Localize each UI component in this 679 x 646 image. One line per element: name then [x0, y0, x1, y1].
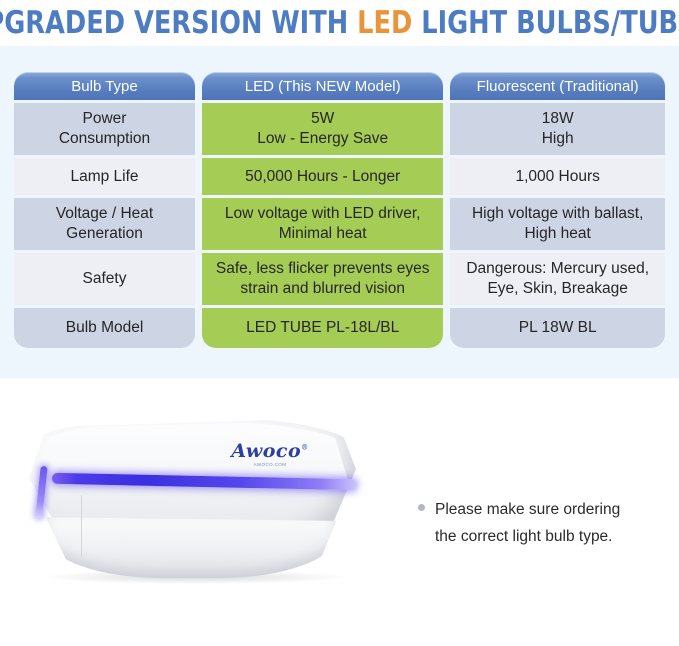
- page-title-before: UPGRADED VERSION WITH: [0, 5, 357, 41]
- table-row: Low voltage with LED driver, Minimal hea…: [202, 198, 443, 250]
- cell-text: Voltage / Heat: [56, 204, 153, 224]
- ordering-note-line-2: the correct light bulb type.: [435, 523, 620, 550]
- table-row: LED TUBE PL-18L/BL: [202, 308, 443, 348]
- cell-text: High: [542, 129, 574, 149]
- product-photo: Awoco® AWOCO.COM: [14, 398, 394, 603]
- cell-text: LED TUBE PL-18L/BL: [246, 318, 399, 338]
- cell-text: Consumption: [59, 129, 150, 149]
- table-row: 18W High: [450, 103, 665, 155]
- brand-logo-subtext: AWOCO.COM: [222, 462, 318, 467]
- table-row: Dangerous: Mercury used, Eye, Skin, Brea…: [450, 253, 665, 305]
- table-column-led: LED (This NEW Model) 5W Low - Energy Sav…: [202, 72, 443, 348]
- table-row: PL 18W BL: [450, 308, 665, 348]
- cell-text: High heat: [472, 224, 643, 244]
- cell-text: Power: [59, 109, 150, 129]
- page-title-after: LIGHT BULBS/TUBES: [412, 5, 679, 41]
- ordering-note-text: Please make sure ordering the correct li…: [435, 496, 620, 550]
- table-row: Power Consumption: [14, 103, 195, 155]
- cell-text: 18W: [542, 109, 574, 129]
- table-column-bulb-type: Bulb Type Power Consumption Lamp Life Vo…: [14, 72, 195, 348]
- table-row: Bulb Model: [14, 308, 195, 348]
- table-row: 50,000 Hours - Longer: [202, 158, 443, 195]
- cell-text: Dangerous: Mercury used,: [466, 259, 649, 279]
- table-row: Lamp Life: [14, 158, 195, 195]
- cell-text: High voltage with ballast,: [472, 204, 643, 224]
- page-title-bar: UPGRADED VERSION WITH LED LIGHT BULBS/TU…: [0, 0, 679, 46]
- page-title-highlight: LED: [357, 5, 412, 41]
- cell-text: 1,000 Hours: [515, 167, 599, 187]
- table-row: Voltage / Heat Generation: [14, 198, 195, 250]
- table-row: 1,000 Hours: [450, 158, 665, 195]
- cell-text: Eye, Skin, Breakage: [466, 279, 649, 299]
- table-column-fluorescent: Fluorescent (Traditional) 18W High 1,000…: [450, 72, 665, 348]
- registered-mark-icon: ®: [301, 444, 309, 452]
- cell-text: Bulb Model: [66, 318, 144, 338]
- cell-text: Lamp Life: [70, 167, 138, 187]
- insect-trap-device: Awoco® AWOCO.COM: [26, 418, 356, 578]
- cell-text: Low - Energy Save: [257, 129, 388, 149]
- comparison-table: Bulb Type Power Consumption Lamp Life Vo…: [14, 72, 665, 348]
- brand-name: Awoco: [231, 440, 301, 462]
- cell-text: strain and blurred vision: [216, 279, 430, 299]
- ordering-note-line-1: Please make sure ordering: [435, 496, 620, 523]
- cell-text: Safety: [83, 269, 127, 289]
- cell-text: Generation: [56, 224, 153, 244]
- brand-logo: Awoco® AWOCO.COM: [222, 442, 318, 467]
- page-title: UPGRADED VERSION WITH LED LIGHT BULBS/TU…: [0, 8, 679, 39]
- table-row: Safe, less flicker prevents eyes strain …: [202, 253, 443, 305]
- brand-logo-text: Awoco®: [222, 442, 318, 461]
- table-header-fluorescent: Fluorescent (Traditional): [450, 72, 665, 100]
- bullet-icon: [418, 504, 425, 511]
- cell-text: Low voltage with LED driver,: [225, 204, 421, 224]
- cell-text: 5W: [257, 109, 388, 129]
- table-header-bulb-type: Bulb Type: [14, 72, 195, 100]
- device-side-seam: [39, 495, 82, 557]
- cell-text: PL 18W BL: [519, 318, 597, 338]
- ordering-note: Please make sure ordering the correct li…: [418, 496, 668, 550]
- table-row: 5W Low - Energy Save: [202, 103, 443, 155]
- table-header-led: LED (This NEW Model): [202, 72, 443, 100]
- cell-text: 50,000 Hours - Longer: [245, 167, 400, 187]
- cell-text: Minimal heat: [225, 224, 421, 244]
- cell-text: Safe, less flicker prevents eyes: [216, 259, 430, 279]
- device-lower-panel: [46, 517, 336, 578]
- table-row: Safety: [14, 253, 195, 305]
- table-row: High voltage with ballast, High heat: [450, 198, 665, 250]
